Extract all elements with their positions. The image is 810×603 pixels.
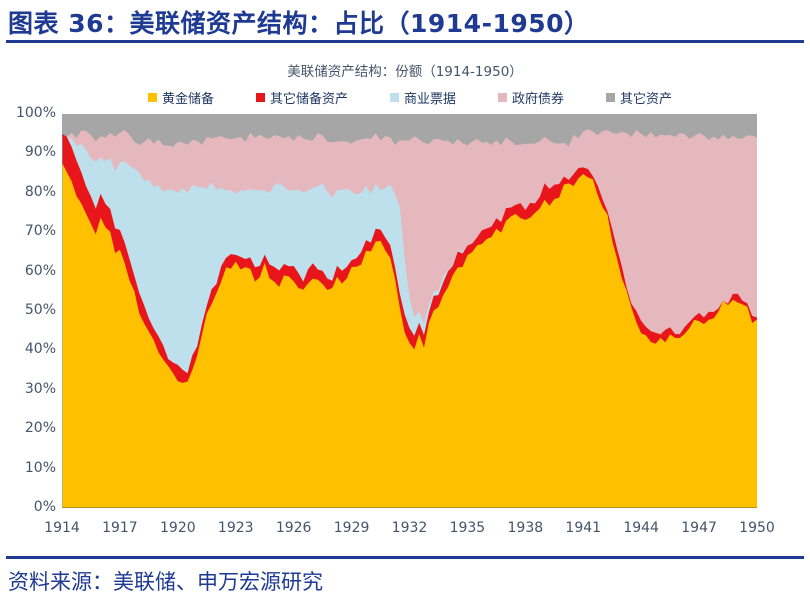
chart-legend: 黄金储备其它储备资产商业票据政府债券其它资产: [0, 88, 810, 107]
chart-title: 美联储资产结构：份额（1914-1950）: [0, 60, 810, 80]
x-tick-label: 1932: [392, 520, 428, 536]
legend-swatch-icon: [256, 93, 265, 102]
y-tick-label: 10%: [25, 460, 56, 476]
x-tick-label: 1920: [160, 520, 196, 536]
legend-item-commercial_paper[interactable]: 商业票据: [390, 88, 456, 107]
legend-label: 其它储备资产: [270, 88, 348, 107]
legend-item-other_reserve_assets[interactable]: 其它储备资产: [256, 88, 348, 107]
legend-item-other_assets[interactable]: 其它资产: [606, 88, 672, 107]
x-tick-label: 1935: [450, 520, 486, 536]
x-tick-label: 1944: [623, 520, 659, 536]
y-tick-label: 70%: [25, 223, 56, 239]
x-axis: 1914191719201923192619291932193519381941…: [62, 514, 757, 538]
y-tick-label: 40%: [25, 341, 56, 357]
y-tick-label: 30%: [25, 381, 56, 397]
x-tick-label: 1929: [334, 520, 370, 536]
x-tick-label: 1950: [739, 520, 775, 536]
footer-divider: [6, 556, 804, 559]
plot-area: [62, 114, 757, 508]
legend-item-government_bonds[interactable]: 政府债券: [498, 88, 564, 107]
legend-swatch-icon: [148, 93, 157, 102]
x-tick-label: 1917: [102, 520, 138, 536]
y-tick-label: 90%: [25, 144, 56, 160]
y-tick-label: 0%: [34, 499, 56, 515]
y-tick-label: 60%: [25, 263, 56, 279]
legend-label: 政府债券: [512, 88, 564, 107]
legend-swatch-icon: [498, 93, 507, 102]
page-title: 图表 36：美联储资产结构：占比（1914-1950）: [8, 4, 590, 40]
x-tick-label: 1941: [565, 520, 601, 536]
x-tick-label: 1914: [44, 520, 80, 536]
x-tick-label: 1938: [508, 520, 544, 536]
y-tick-label: 20%: [25, 420, 56, 436]
x-tick-label: 1923: [218, 520, 254, 536]
chart-container: 美联储资产结构：份额（1914-1950） 黄金储备其它储备资产商业票据政府债券…: [0, 48, 810, 553]
y-tick-label: 50%: [25, 302, 56, 318]
y-tick-label: 80%: [25, 184, 56, 200]
x-tick-label: 1926: [276, 520, 312, 536]
legend-item-gold_reserve[interactable]: 黄金储备: [148, 88, 214, 107]
y-tick-label: 100%: [16, 105, 56, 121]
header-divider: [6, 40, 804, 43]
source-note: 资料来源：美联储、申万宏源研究: [8, 566, 323, 596]
legend-label: 其它资产: [620, 88, 672, 107]
legend-label: 黄金储备: [162, 88, 214, 107]
legend-swatch-icon: [606, 93, 615, 102]
x-tick-label: 1947: [681, 520, 717, 536]
legend-swatch-icon: [390, 93, 399, 102]
legend-label: 商业票据: [404, 88, 456, 107]
y-axis: 0%10%20%30%40%50%60%70%80%90%100%: [0, 114, 56, 508]
stacked-area-svg: [62, 114, 757, 508]
